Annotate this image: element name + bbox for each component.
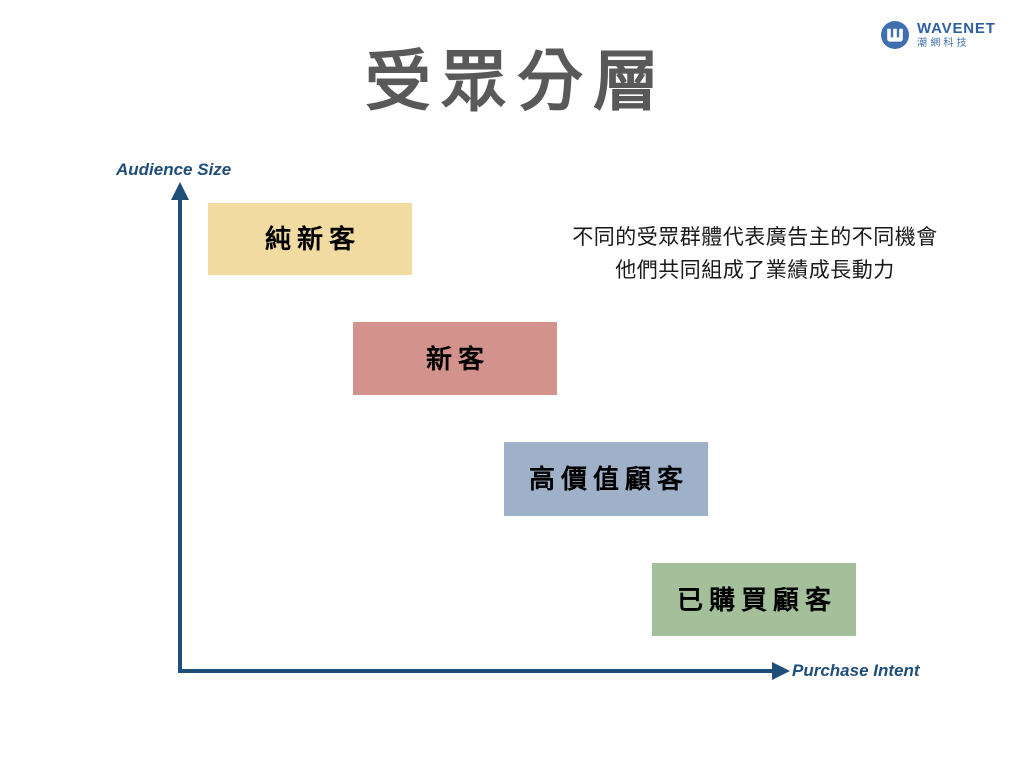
x-axis-line	[178, 669, 778, 673]
y-axis-arrow-icon	[171, 182, 189, 200]
segment-label: 純新客	[259, 226, 361, 252]
x-axis-arrow-icon	[772, 662, 790, 680]
segment-label: 新客	[420, 346, 490, 372]
segment-box-2[interactable]: 新客	[353, 322, 557, 395]
caption-line-1: 不同的受眾群體代表廣告主的不同機會	[535, 222, 975, 255]
caption-line-2: 他們共同組成了業績成長動力	[535, 255, 975, 288]
segment-label: 高價值顧客	[523, 466, 689, 492]
y-axis-line	[178, 196, 182, 673]
segment-box-3[interactable]: 高價值顧客	[504, 442, 708, 516]
segment-box-4[interactable]: 已購買顧客	[652, 563, 856, 636]
slide-canvas: WAVENET 潮網科技 受眾分層 Audience Size Purchase…	[0, 0, 1024, 768]
segment-label: 已購買顧客	[671, 587, 837, 613]
page-title: 受眾分層	[0, 44, 1024, 120]
segment-box-1[interactable]: 純新客	[208, 203, 412, 275]
y-axis-label: Audience Size	[116, 160, 231, 180]
x-axis-label: Purchase Intent	[792, 661, 920, 681]
wavenet-wordmark: WAVENET	[917, 21, 996, 37]
caption-text: 不同的受眾群體代表廣告主的不同機會 他們共同組成了業績成長動力	[535, 222, 975, 287]
